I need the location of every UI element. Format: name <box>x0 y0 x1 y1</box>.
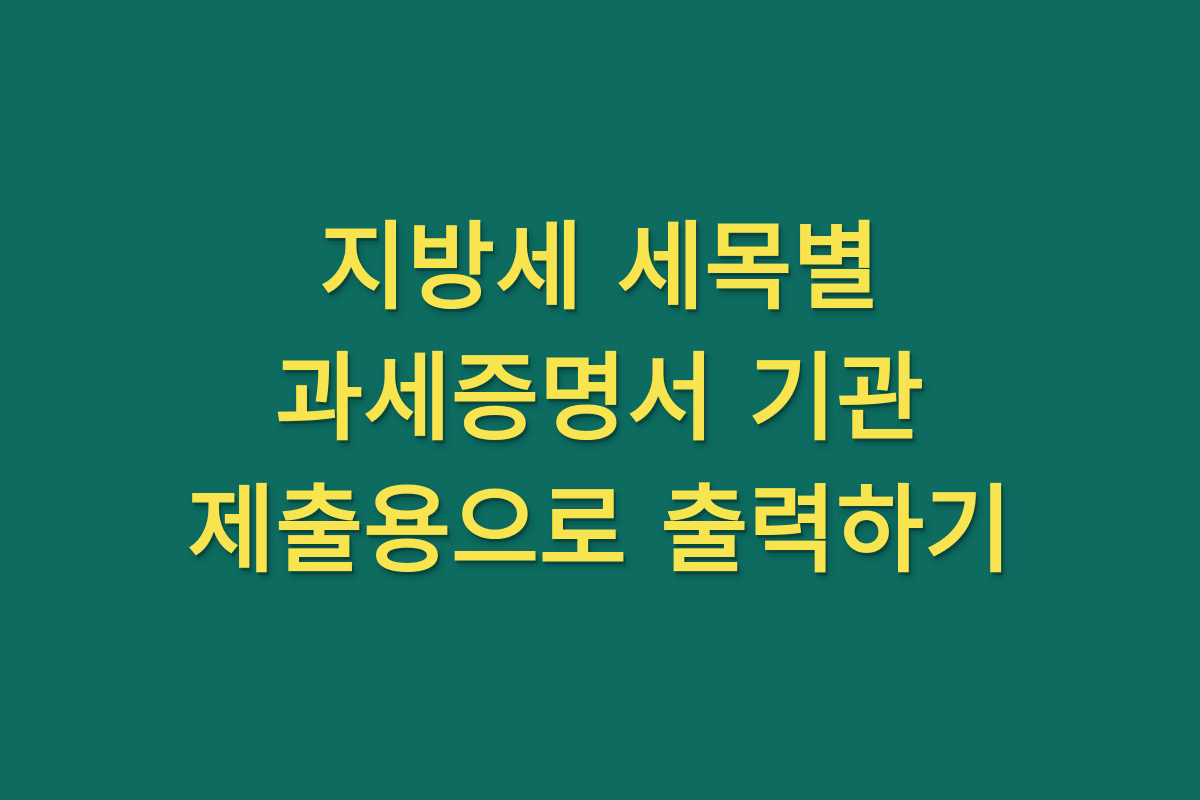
thumbnail-card: 지방세 세목별 과세증명서 기관 제출용으로 출력하기 <box>0 0 1200 800</box>
page-title: 지방세 세목별 과세증명서 기관 제출용으로 출력하기 <box>90 203 1110 596</box>
headline-block: 지방세 세목별 과세증명서 기관 제출용으로 출력하기 <box>80 203 1120 596</box>
